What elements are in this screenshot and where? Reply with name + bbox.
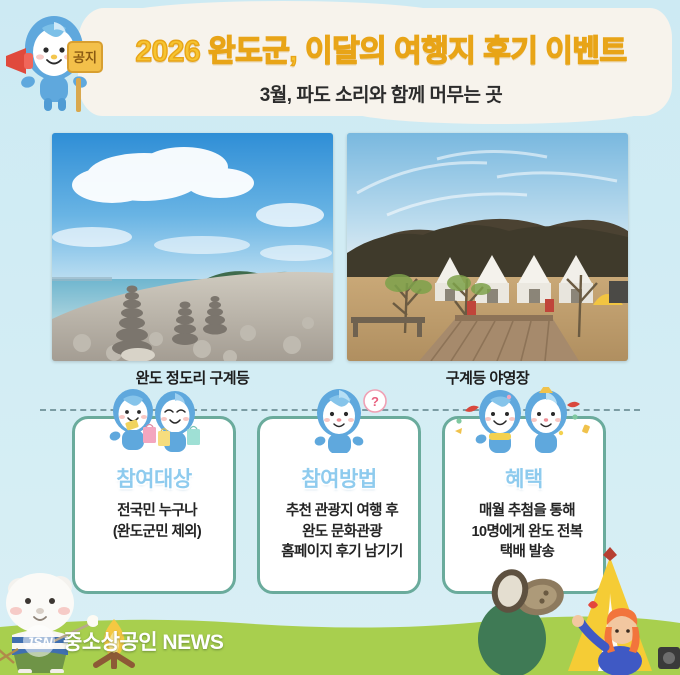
card-line: 추천 관광지 여행 후 [264, 501, 420, 522]
caption-left: 완도 정도리 구계등 [52, 367, 333, 388]
page-subtitle: 3월, 파도 소리와 함께 머무는 곳 [96, 80, 666, 107]
poster-root: 공지 2026 완도군, 이달의 여행지 후기 이벤트 3월, 파도 소리와 함… [0, 0, 680, 675]
brand-name: 중소상공인 NEWS [63, 626, 223, 656]
gugyedeung-campground-photo [347, 133, 628, 361]
card-line: 10명에게 완도 전복 [449, 522, 605, 543]
jsn-badge-icon: JSN [22, 624, 56, 658]
info-card-how-to-join: ? 참여방법 추천 관광지 여행 후 완도 문화관광 홈페이지 후기 남기기 [257, 416, 421, 594]
card-heading-how-to-join: 참여방법 [260, 463, 418, 493]
card-line: (완도군민 제외) [79, 522, 235, 543]
caption-right: 구계등 야영장 [347, 367, 628, 388]
card-line: 완도 문화관광 [264, 522, 420, 543]
mascot-with-question-mark-icon: ? [264, 387, 414, 453]
camping-scene-icon [472, 543, 680, 675]
page-title: 2026 완도군, 이달의 여행지 후기 이벤트 [96, 26, 666, 70]
card-line: 홈페이지 후기 남기기 [264, 542, 420, 563]
header: 공지 2026 완도군, 이달의 여행지 후기 이벤트 3월, 파도 소리와 함… [0, 0, 680, 122]
card-line: 전국민 누구나 [79, 501, 235, 522]
brand-logo: JSN 중소상공인 NEWS [22, 624, 223, 658]
card-body-participants: 전국민 누구나 (완도군민 제외) [79, 501, 235, 542]
photo-row [0, 133, 680, 361]
card-heading-benefit: 혜택 [445, 463, 603, 493]
card-line: 매월 추첨을 통해 [449, 501, 605, 522]
card-heading-participants: 참여대상 [75, 463, 233, 493]
jsn-badge-label: JSN [25, 634, 53, 650]
two-mascots-with-shopping-bags-icon [79, 387, 229, 453]
svg-text:?: ? [371, 394, 379, 409]
two-mascots-celebrating-icon [449, 387, 599, 453]
card-body-how-to-join: 추천 관광지 여행 후 완도 문화관광 홈페이지 후기 남기기 [264, 501, 420, 563]
photo-captions: 완도 정도리 구계등 구계등 야영장 [0, 367, 680, 391]
announcer-mascot-icon: 공지 [4, 8, 108, 116]
notice-sign-label: 공지 [73, 50, 97, 65]
jeongdori-gugyedeung-photo [52, 133, 333, 361]
section-divider [40, 409, 640, 411]
